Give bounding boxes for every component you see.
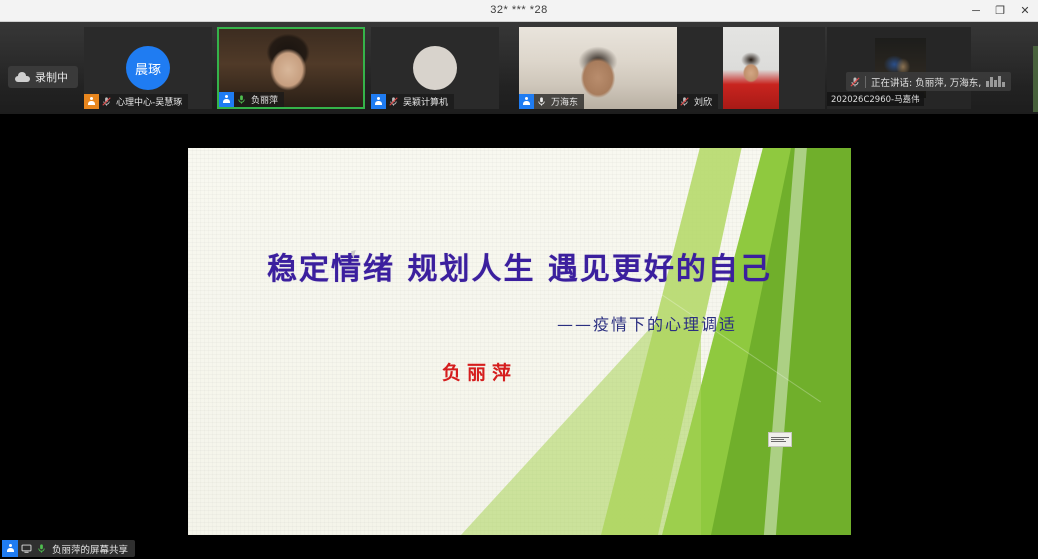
window-title: 32* *** *28 [0,0,1038,21]
participant-badge-icon [219,92,234,107]
participant-badge-icon [519,94,534,109]
maximize-button[interactable]: ❐ [988,0,1012,21]
recording-indicator[interactable]: 录制中 [8,66,78,88]
slide-watermark-box [768,432,792,447]
active-mic-icon [534,94,548,109]
participant-tile-3[interactable]: 吴颖计算机 [371,27,499,109]
window-title-bar: 32* *** *28 ─ ❐ ✕ [0,0,1038,22]
muted-mic-icon [846,74,864,89]
avatar [413,46,457,90]
window-controls: ─ ❐ ✕ [964,0,1038,21]
participant-nameplate: 负丽萍 [219,92,284,107]
participant-tile-5[interactable]: 刘欣 [677,27,825,109]
active-mic-icon [234,92,248,107]
participant-nameplate: 刘欣 [677,94,718,109]
muted-mic-icon [677,94,691,109]
bottom-bar: 负丽萍的屏幕共享 [0,535,1038,559]
host-badge-icon [84,94,99,109]
screen-share-label: 负丽萍的屏幕共享 [48,542,128,556]
participant-nameplate: 心理中心-吴慧琢 [84,94,188,109]
participant-nameplate: 万海东 [519,94,584,109]
presentation-slide: 稳定情绪 规划人生 遇见更好的自己 ——疫情下的心理调适 负丽萍 [188,148,851,535]
participant-tile-4[interactable]: 万海东 [519,27,677,109]
avatar: 晨琢 [126,46,170,90]
participant-name: 吴颖计算机 [400,95,448,108]
participant-badge-icon [2,540,18,557]
active-mic-icon [34,541,48,556]
participant-tile-2[interactable]: 负丽萍 [217,27,365,109]
participant-badge-icon [371,94,386,109]
speaking-tooltip: 正在讲话: 负丽萍, 万海东, [846,72,1011,91]
minimize-button[interactable]: ─ [964,0,988,21]
filmstrip-scroll-rail[interactable] [1033,46,1038,112]
slide-subtitle: ——疫情下的心理调适 [557,311,737,335]
participant-name: 刘欣 [691,95,712,108]
close-button[interactable]: ✕ [1012,0,1038,21]
participant-name: 心理中心-吴慧琢 [113,95,182,108]
participant-nameplate: 吴颖计算机 [371,94,454,109]
recording-label: 录制中 [35,69,68,85]
participant-tile-1[interactable]: 晨琢 心理中心-吴慧琢 [84,27,212,109]
participant-name: 负丽萍 [248,93,278,106]
muted-mic-icon [99,94,113,109]
screen-share-indicator[interactable]: 负丽萍的屏幕共享 [2,540,135,557]
tooltip-divider [865,76,866,88]
participant-video-inner [723,27,779,109]
screen-share-stage: 稳定情绪 规划人生 遇见更好的自己 ——疫情下的心理调适 负丽萍 [0,114,1038,559]
participant-name: 万海东 [548,95,578,108]
muted-mic-icon [386,94,400,109]
audio-wave-icon [986,76,1005,87]
slide-title: 稳定情绪 规划人生 遇见更好的自己 [188,244,851,288]
cloud-icon [15,72,30,82]
participant-name-overlay: 202026C2960-马嘉伟 [827,92,924,106]
monitor-icon [18,540,34,557]
slide-author: 负丽萍 [442,358,517,385]
speaking-label: 正在讲话: 负丽萍, 万海东, [871,75,981,89]
